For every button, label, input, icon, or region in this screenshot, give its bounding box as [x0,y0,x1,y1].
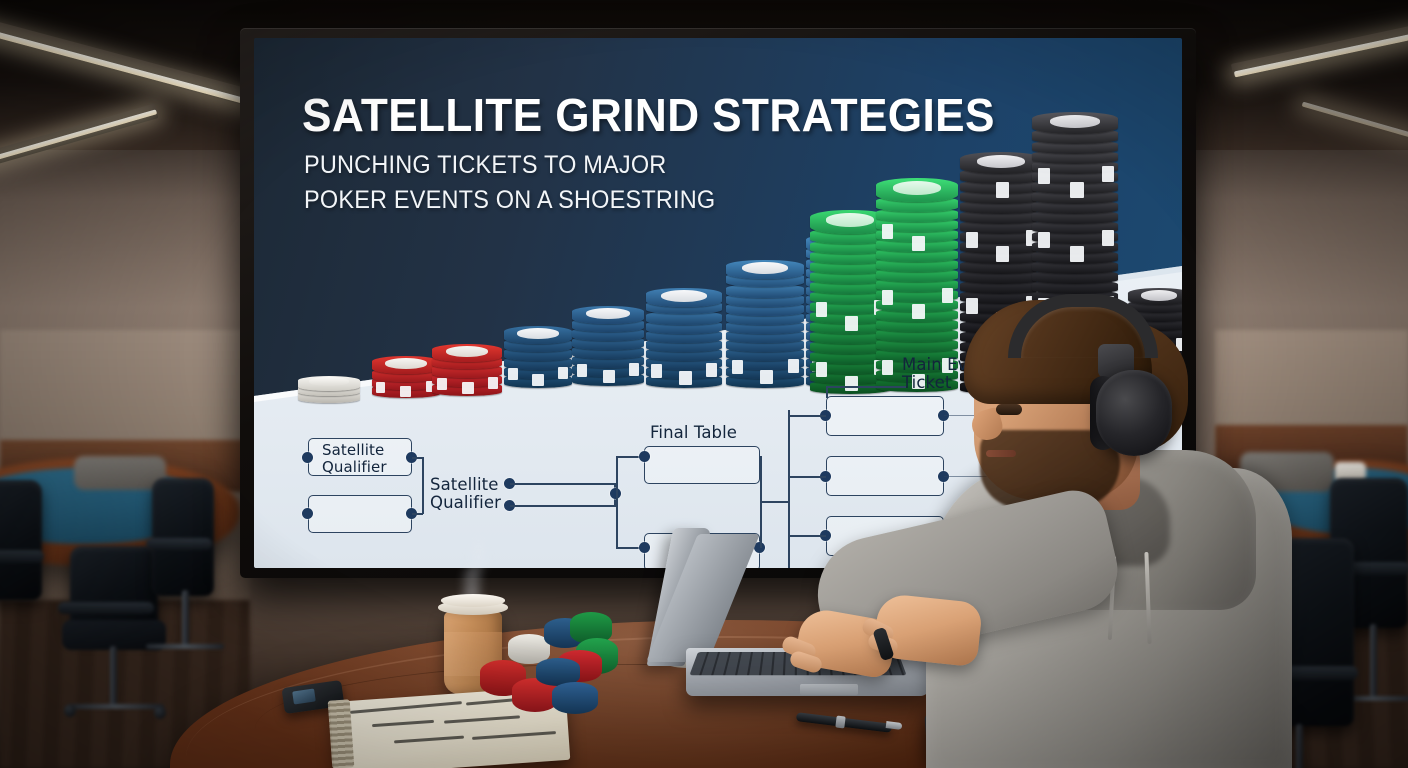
bracket-label-round3: Final Table [650,424,737,442]
bracket-node-r1-1a [302,452,313,463]
bracket-r3-out-h [760,501,788,503]
bracket-rail-r2-top [510,483,616,485]
headphones-earcup [1096,370,1172,456]
bracket-label-round1: Satellite Qualifier [322,442,387,476]
bracket-connector-r1-h1 [412,457,423,459]
bracket-r4-h-3 [788,535,826,537]
coffee-cup-lid-upper [441,594,505,607]
bracket-label-round1-line1: Satellite [322,442,387,459]
bracket-connector-r1-h2 [412,513,423,515]
bracket-label-round2: Satellite Qualifier [430,476,501,513]
bracket-node-r3-2a [639,542,650,553]
bracket-r4-v [788,410,790,568]
pen-clip [835,715,845,728]
steam-wisp-2 [472,540,485,574]
bracket-label-round2-line1: Satellite [430,476,501,494]
bracket-rail-r2-bottom [510,505,616,507]
notepad-spiral-binding [328,699,355,768]
bracket-r4-label-leader-v [826,386,828,398]
bracket-r4-h-2 [788,476,826,478]
desk-chip-blue-3 [552,682,598,714]
bracket-connector-r1-v [422,457,424,514]
bracket-label-round2-line2: Qualifier [430,494,501,512]
bracket-box-r1-2 [308,495,412,533]
person-lips [986,450,1016,457]
bracket-r3-v-left [616,456,618,548]
bracket-r4-h-1 [788,415,826,417]
person-eye [996,404,1022,415]
bracket-box-r3-1 [644,446,760,484]
laptop-trackpad[interactable] [800,684,858,695]
bracket-label-round1-line2: Qualifier [322,459,387,476]
bracket-node-r1-2a [302,508,313,519]
person-poker-player [900,300,1320,768]
screenshot-root: SATELLITE GRIND STRATEGIES PUNCHING TICK… [0,0,1408,768]
bracket-r4-label-leader [826,386,906,388]
bracket-node-r3-1 [639,451,650,462]
